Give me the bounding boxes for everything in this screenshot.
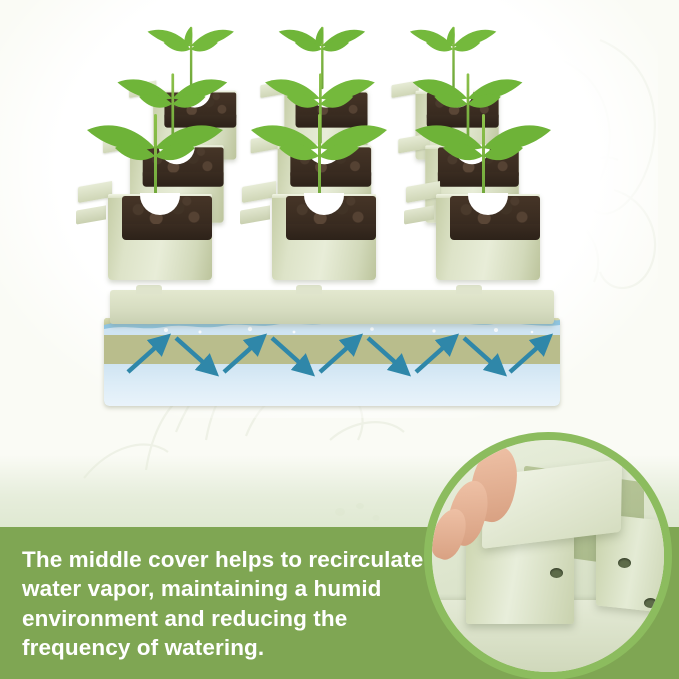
seed-pot	[108, 194, 212, 280]
arrow-down-1	[176, 338, 214, 372]
seed-cell	[96, 168, 214, 280]
soil-front	[286, 224, 376, 240]
arrow-up-4	[416, 338, 454, 372]
seed-cell-grid	[58, 18, 588, 328]
drainage-hole	[550, 568, 563, 578]
caption-text: The middle cover helps to recirculate wa…	[22, 545, 452, 662]
product-photo	[58, 18, 588, 408]
arrow-up-1	[128, 338, 166, 372]
arrow-down-3	[368, 338, 406, 372]
seed-cell	[260, 168, 378, 280]
drainage-hole	[644, 598, 657, 608]
arrow-down-4	[464, 338, 502, 372]
label-tab	[240, 205, 270, 224]
inset-scene	[432, 440, 664, 672]
arrow-down-2	[272, 338, 310, 372]
label-tab	[76, 205, 106, 224]
product-image-canvas: The middle cover helps to recirculate wa…	[0, 0, 679, 679]
label-tab	[404, 205, 434, 224]
arrow-up-5	[510, 338, 548, 372]
arrow-up-2	[224, 338, 262, 372]
water-reservoir-base	[104, 318, 560, 406]
arrow-up-3	[320, 338, 358, 372]
vapor-circulation-arrows	[104, 326, 560, 386]
drainage-hole	[618, 558, 631, 568]
seed-pot	[272, 194, 376, 280]
seed-pot	[436, 194, 540, 280]
detail-inset-circle	[424, 432, 672, 679]
soil-front	[122, 224, 212, 240]
hand	[438, 450, 548, 580]
soil-front	[450, 224, 540, 240]
seed-cell	[424, 168, 542, 280]
